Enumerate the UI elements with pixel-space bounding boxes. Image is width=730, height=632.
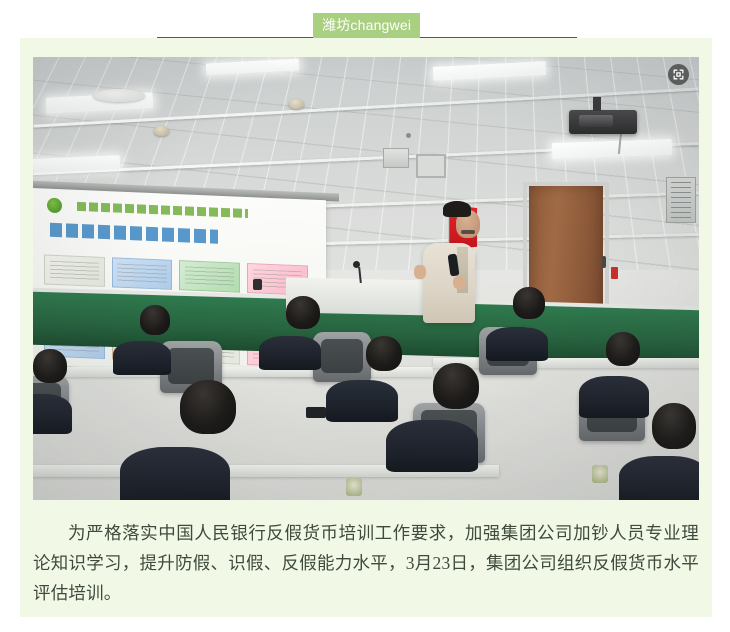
emergency-sign [611, 267, 618, 279]
attendee-shoulders [326, 380, 398, 422]
attendee-head [33, 349, 67, 383]
page-header: 潍坊changwei [0, 0, 730, 38]
banknote-specimen [180, 260, 241, 293]
mobile-phone-on-desk [306, 407, 326, 418]
uniform-shoulder-patch [592, 465, 608, 483]
slide-company-name [77, 202, 248, 218]
presenter-hair [443, 201, 471, 217]
site-name-badge: 潍坊changwei [313, 13, 420, 38]
attendee-shoulders [33, 394, 72, 434]
door-handle [602, 256, 606, 268]
attendee-shoulders [579, 376, 649, 418]
attendee-shoulders [259, 336, 321, 370]
fullscreen-expand-icon[interactable] [668, 64, 689, 85]
smoke-detector [289, 99, 304, 109]
ceiling-projector [569, 110, 637, 134]
photo-scene [33, 57, 699, 500]
wall-notice-frame [416, 154, 446, 178]
attendee-shoulders [486, 327, 548, 361]
desk-microphone-head [353, 261, 360, 268]
attendee-head [513, 287, 545, 319]
slide-company-logo-icon [47, 198, 62, 214]
attendee-head-foreground [433, 363, 479, 409]
attendee-shoulders-foreground [120, 447, 230, 500]
page-root: 潍坊changwei [0, 0, 730, 632]
desk-microphone [253, 279, 262, 290]
uniform-shoulder-patch [346, 478, 362, 496]
article-caption: 为严格落实中国人民银行反假货币培训工作要求，加强集团公司加钞人员专业理论知识学习… [33, 518, 699, 608]
presenter-hand-right [453, 276, 465, 289]
audience-chair [313, 332, 371, 382]
audience-desk [433, 358, 699, 368]
article-photo[interactable] [33, 57, 699, 500]
banknote-specimen [44, 254, 105, 287]
presenter-glasses [461, 230, 475, 234]
ceiling-speaker [93, 89, 145, 102]
article-panel: 为严格落实中国人民银行反假货币培训工作要求，加强集团公司加钞人员专业理论知识学习… [20, 38, 712, 617]
attendee-head [366, 336, 402, 371]
wall-vent [666, 177, 696, 223]
attendee-head-foreground [652, 403, 696, 449]
attendee-shoulders-foreground [386, 420, 478, 472]
attendee-shoulders-foreground [619, 456, 699, 500]
attendee-head [606, 332, 640, 366]
attendee-shoulders [113, 341, 171, 375]
presenter-hand-left [414, 265, 426, 279]
banknote-specimen [112, 257, 173, 290]
wall-control-box [383, 148, 409, 168]
attendee-head [140, 305, 170, 335]
smoke-detector [154, 126, 169, 136]
attendee-head [286, 296, 320, 329]
attendee-head-foreground [180, 380, 236, 434]
slide-title-text [50, 223, 218, 244]
projector-lens [579, 115, 613, 127]
